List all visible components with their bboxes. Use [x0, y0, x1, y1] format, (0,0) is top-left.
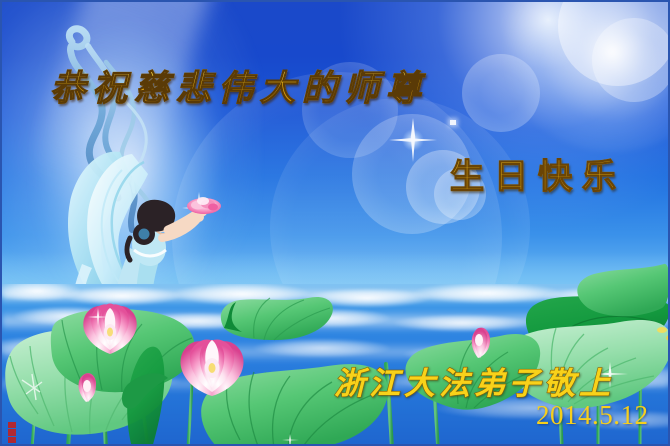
cloud-puff [252, 338, 392, 358]
greeting-card: 恭祝慈悲伟大的师尊 生日快乐 浙江大法弟子敬上 2014.5.12 [0, 0, 670, 446]
cloud-puff [272, 308, 392, 328]
cloud-puff [62, 286, 182, 306]
cloud-puff [62, 372, 182, 390]
signature-text: 浙江大法弟子敬上 [334, 358, 614, 403]
date-text: 2014.5.12 [536, 400, 649, 431]
seal-mark [8, 422, 16, 428]
artist-red-seal [8, 422, 16, 443]
seal-mark [8, 429, 16, 435]
greeting-text: 生日快乐 [450, 149, 626, 198]
seal-mark [8, 437, 16, 443]
main-title-text: 恭祝慈悲伟大的师尊 [50, 60, 428, 111]
small-light-speck [450, 120, 456, 125]
cloud-puff [202, 376, 332, 392]
cloud-puff [132, 312, 262, 330]
cloud-puff [392, 314, 532, 332]
cloud-puff [522, 308, 668, 330]
cloud-puff [112, 342, 232, 360]
cloud-puff [12, 306, 122, 326]
